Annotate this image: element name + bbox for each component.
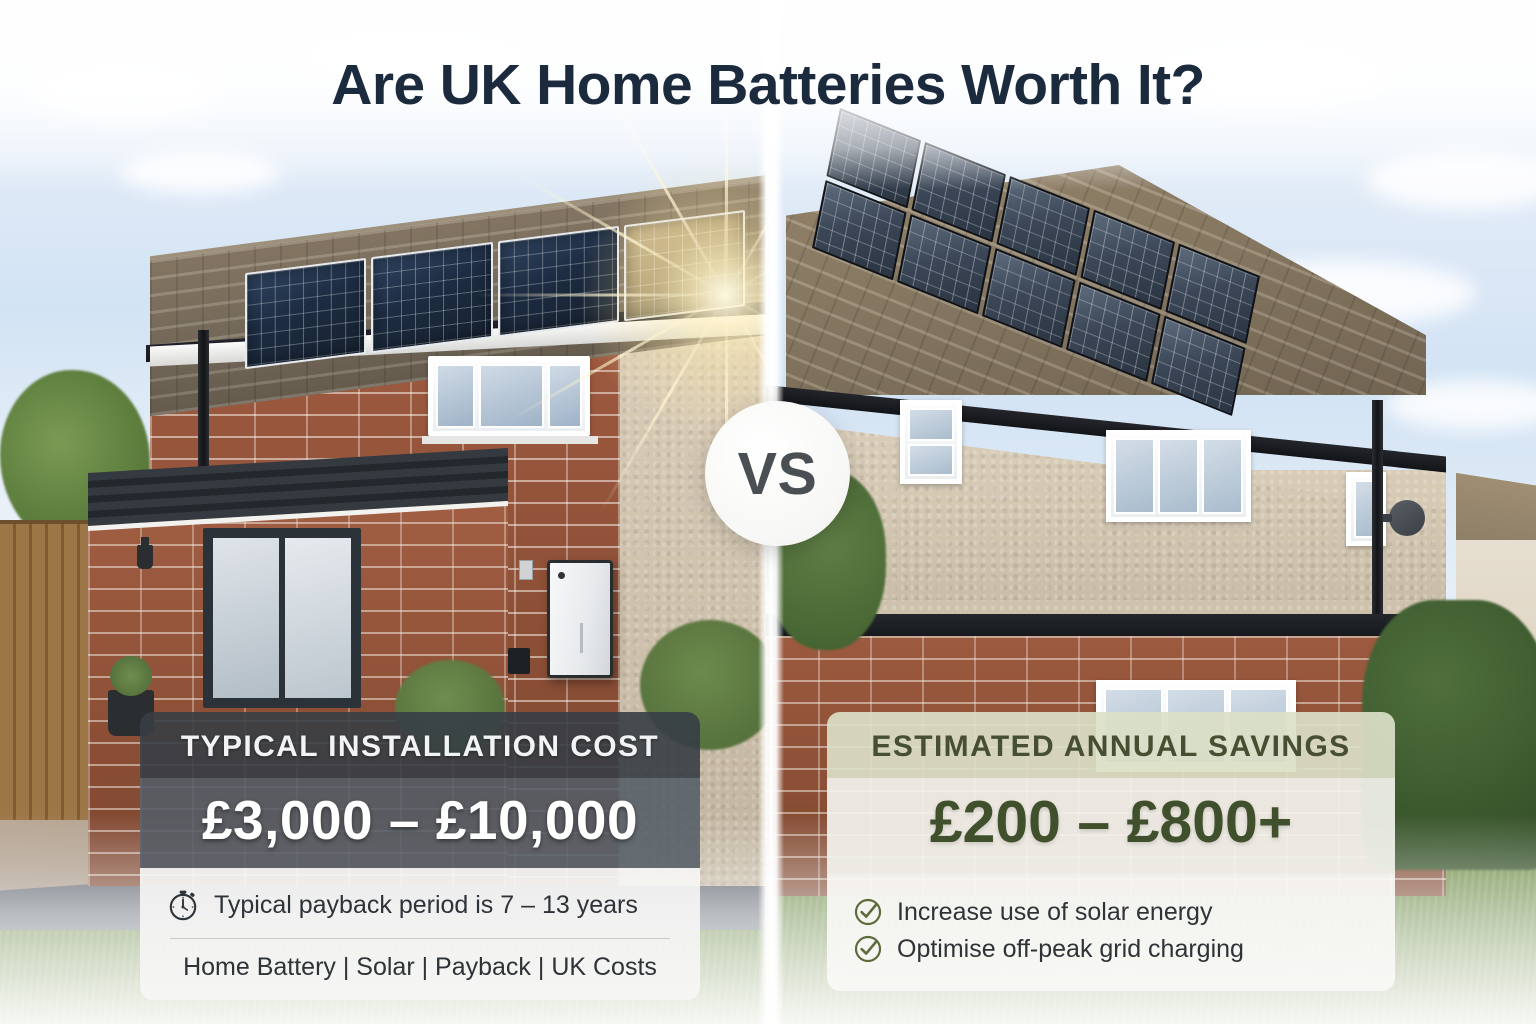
annual-savings-value: £200 – £800+ <box>827 778 1395 874</box>
solar-panel <box>624 210 745 321</box>
left-upper-window <box>428 356 590 436</box>
window-pane <box>1202 438 1243 514</box>
window-pane <box>479 364 544 428</box>
right-downpipe <box>1372 400 1383 640</box>
benefit-item: Optimise off-peak grid charging <box>853 934 1369 964</box>
benefit-item: Increase use of solar energy <box>853 897 1369 927</box>
window-pane <box>1114 438 1155 514</box>
right-window-upper-centre <box>1106 430 1251 522</box>
topic-tags: Home Battery | Solar | Payback | UK Cost… <box>166 953 674 982</box>
check-circle-icon <box>853 934 883 964</box>
window-pane <box>1158 438 1199 514</box>
check-circle-icon <box>853 897 883 927</box>
page-title: Are UK Home Batteries Worth It? <box>0 52 1536 118</box>
annual-savings-body: Increase use of solar energy Optimise of… <box>827 874 1395 991</box>
home-battery-unit <box>547 560 613 678</box>
versus-badge: VS <box>705 401 850 546</box>
inverter-box <box>508 648 530 674</box>
window-pane <box>908 408 954 441</box>
window-pane <box>908 444 954 477</box>
installation-cost-heading: TYPICAL INSTALLATION COST <box>140 712 700 778</box>
installation-cost-value: £3,000 – £10,000 <box>140 778 700 868</box>
payback-period-note: Typical payback period is 7 – 13 years <box>166 888 674 922</box>
left-garden-fence <box>0 520 92 820</box>
wall-lamp-icon <box>137 545 153 569</box>
solar-panel <box>371 242 492 353</box>
payback-period-label: Typical payback period is 7 – 13 years <box>214 891 638 920</box>
benefit-label: Increase use of solar energy <box>897 898 1212 927</box>
door-leaf <box>210 535 282 701</box>
left-french-doors <box>203 528 361 708</box>
left-window-sill <box>422 436 598 444</box>
annual-savings-heading: ESTIMATED ANNUAL SAVINGS <box>827 712 1395 778</box>
battery-status-led <box>558 572 565 579</box>
stopwatch-icon <box>166 888 200 922</box>
solar-panel <box>498 226 619 337</box>
satellite-dish-icon <box>1389 500 1425 536</box>
versus-badge-label: VS <box>738 440 818 508</box>
benefit-label: Optimise off-peak grid charging <box>897 935 1244 964</box>
right-window-upper-left <box>900 400 962 484</box>
electric-meter-box <box>519 560 533 580</box>
solar-panel <box>245 258 366 369</box>
window-pane <box>436 364 475 428</box>
annual-savings-card: ESTIMATED ANNUAL SAVINGS £200 – £800+ In… <box>827 712 1395 991</box>
infographic-canvas: VS Are UK Home Batteries Worth It? TYPIC… <box>0 0 1536 1024</box>
window-pane <box>548 364 582 428</box>
door-leaf <box>282 535 354 701</box>
installation-cost-body: Typical payback period is 7 – 13 years H… <box>140 868 700 1000</box>
card-divider-rule <box>170 938 670 939</box>
installation-cost-card: TYPICAL INSTALLATION COST £3,000 – £10,0… <box>140 712 700 1000</box>
